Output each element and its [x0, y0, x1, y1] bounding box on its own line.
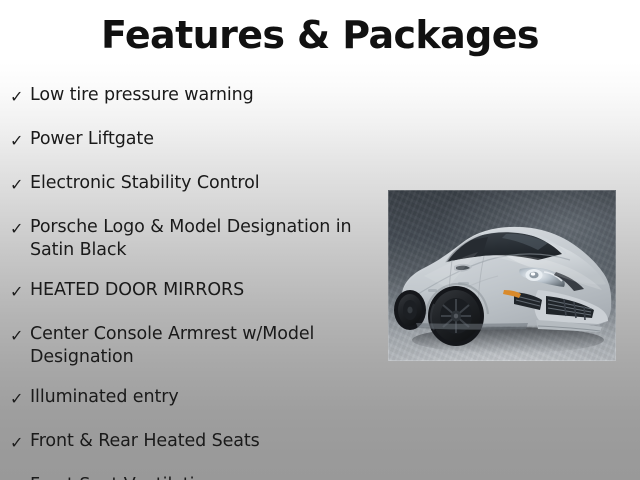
check-icon: ✓ — [8, 84, 30, 110]
feature-label: HEATED DOOR MIRRORS — [30, 279, 370, 302]
feature-label: Porsche Logo & Model Designation in Sati… — [30, 216, 370, 262]
list-item: ✓ Power Liftgate — [8, 128, 370, 154]
check-icon: ✓ — [8, 279, 30, 305]
check-icon: ✓ — [8, 128, 30, 154]
check-icon: ✓ — [8, 386, 30, 412]
list-item: ✓ Illuminated entry — [8, 386, 370, 412]
check-icon: ✓ — [8, 474, 30, 480]
feature-list: ✓ Low tire pressure warning ✓ Power Lift… — [8, 84, 370, 480]
list-item: ✓ Center Console Armrest w/Model Designa… — [8, 323, 370, 369]
feature-label: Center Console Armrest w/Model Designati… — [30, 323, 370, 369]
check-icon: ✓ — [8, 172, 30, 198]
check-icon: ✓ — [8, 430, 30, 456]
list-item: ✓ Front & Rear Heated Seats — [8, 430, 370, 456]
feature-label: Electronic Stability Control — [30, 172, 370, 195]
feature-label: Illuminated entry — [30, 386, 370, 409]
list-item: ✓ Front Seat Ventilation — [8, 474, 370, 480]
slide-canvas: Features & Packages ✓ Low tire pressure … — [0, 0, 640, 480]
feature-label: Front & Rear Heated Seats — [30, 430, 370, 453]
feature-label: Low tire pressure warning — [30, 84, 370, 107]
list-item: ✓ Porsche Logo & Model Designation in Sa… — [8, 216, 370, 262]
feature-label: Power Liftgate — [30, 128, 370, 151]
feature-label: Front Seat Ventilation — [30, 474, 370, 480]
vehicle-photo — [388, 190, 616, 361]
list-item: ✓ HEATED DOOR MIRRORS — [8, 279, 370, 305]
porsche-cayenne-illustration — [388, 190, 616, 361]
list-item: ✓ Low tire pressure warning — [8, 84, 370, 110]
check-icon: ✓ — [8, 216, 30, 242]
check-icon: ✓ — [8, 323, 30, 349]
list-item: ✓ Electronic Stability Control — [8, 172, 370, 198]
page-title: Features & Packages — [0, 12, 640, 58]
